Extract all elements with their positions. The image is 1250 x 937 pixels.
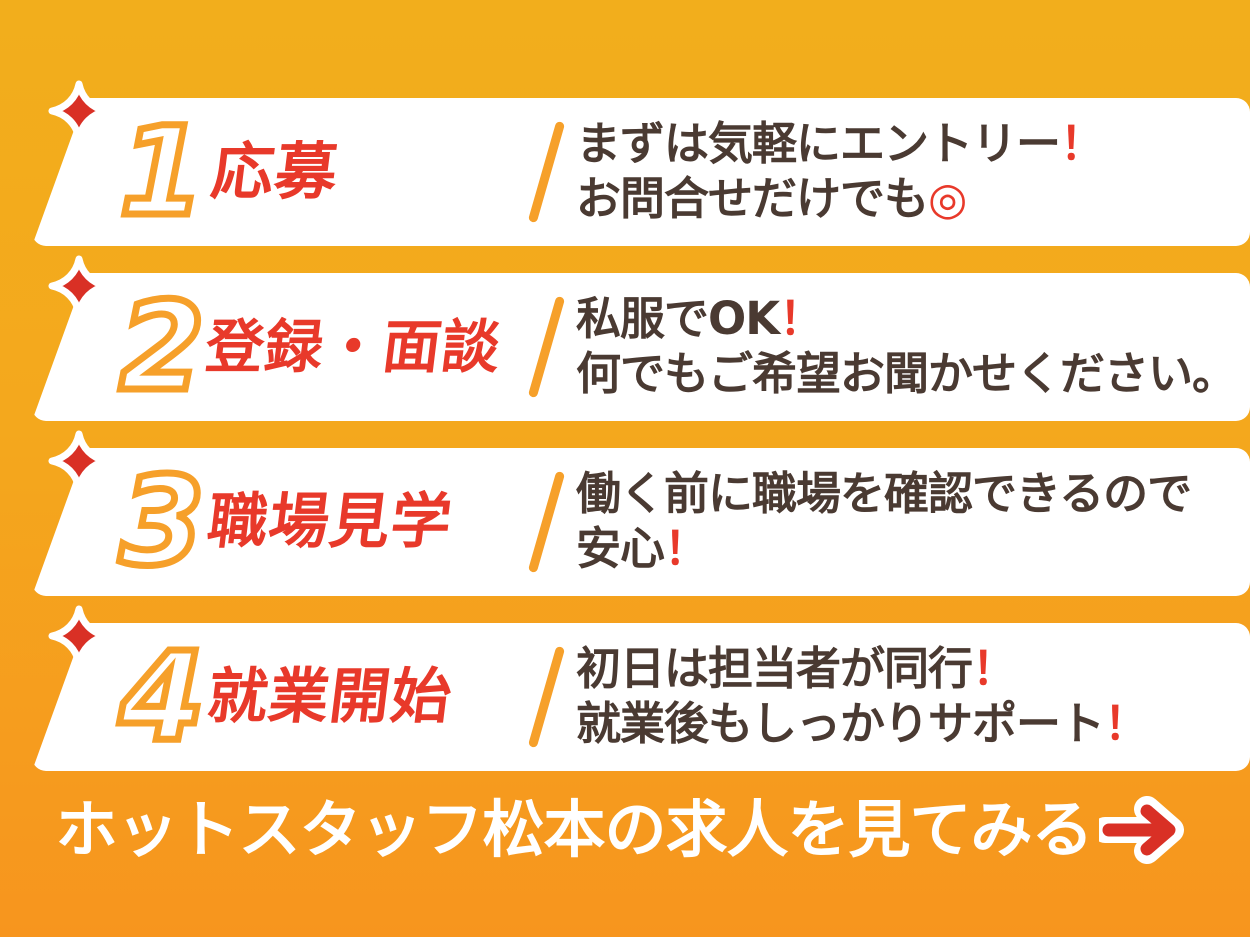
arrow-right-icon[interactable]	[1099, 793, 1195, 867]
desc-line-2: お問合せだけでも	[576, 172, 928, 225]
cta-label: ホットスタッフ松本の求人を見てみる	[55, 799, 1092, 861]
sparkle-diamond-icon	[48, 430, 110, 492]
step-label: 就業開始	[204, 667, 455, 727]
step-label: 応募	[208, 141, 342, 203]
step-number: 1	[96, 106, 226, 238]
sparkle-diamond-icon	[48, 605, 110, 667]
step-label: 職場見学	[204, 492, 455, 552]
desc-line-2: 就業後もしっかりサポート	[576, 697, 1104, 750]
step-row-4: 4 就業開始 初日は担当者が同行！ 就業後もしっかりサポート！	[0, 623, 1250, 771]
desc-line-2-mark: ◎	[928, 172, 966, 225]
desc-line-1: 私服でOK	[576, 292, 779, 345]
cta-link[interactable]: ホットスタッフ松本の求人を見てみる	[0, 780, 1250, 880]
desc-line-2-mark: ！	[664, 522, 708, 575]
step-number: 4	[96, 631, 226, 763]
desc-line-1: まずは気軽にエントリー	[576, 117, 1060, 170]
step-description: 私服でOK！ 何でもご希望お聞かせください。	[576, 292, 1236, 402]
sparkle-diamond-icon	[48, 80, 110, 142]
step-description: まずは気軽にエントリー！ お問合せだけでも◎	[576, 117, 1104, 227]
step-label: 登録・面談	[202, 318, 504, 376]
desc-line-2-mark: ！	[1104, 697, 1148, 750]
desc-line-1-mark: ！	[779, 292, 823, 345]
desc-line-2: 何でもご希望お聞かせください。	[576, 347, 1236, 400]
step-row-2: 2 登録・面談 私服でOK！ 何でもご希望お聞かせください。	[0, 273, 1250, 421]
step-number: 3	[96, 456, 226, 588]
promo-banner: 1 応募 まずは気軽にエントリー！ お問合せだけでも◎ 2 登録・面談 私服でO…	[0, 0, 1250, 937]
desc-line-1: 初日は担当者が同行	[576, 642, 972, 695]
desc-line-2: 安心	[576, 522, 664, 575]
step-row-3: 3 職場見学 働く前に職場を確認できるので 安心！	[0, 448, 1250, 596]
desc-line-1-mark: ！	[972, 642, 1016, 695]
desc-line-1-mark: ！	[1060, 117, 1104, 170]
desc-line-1: 働く前に職場を確認できるので	[576, 467, 1191, 520]
step-description: 初日は担当者が同行！ 就業後もしっかりサポート！	[576, 642, 1148, 752]
step-description: 働く前に職場を確認できるので 安心！	[576, 467, 1191, 577]
step-row-1: 1 応募 まずは気軽にエントリー！ お問合せだけでも◎	[0, 98, 1250, 246]
sparkle-diamond-icon	[48, 255, 110, 317]
